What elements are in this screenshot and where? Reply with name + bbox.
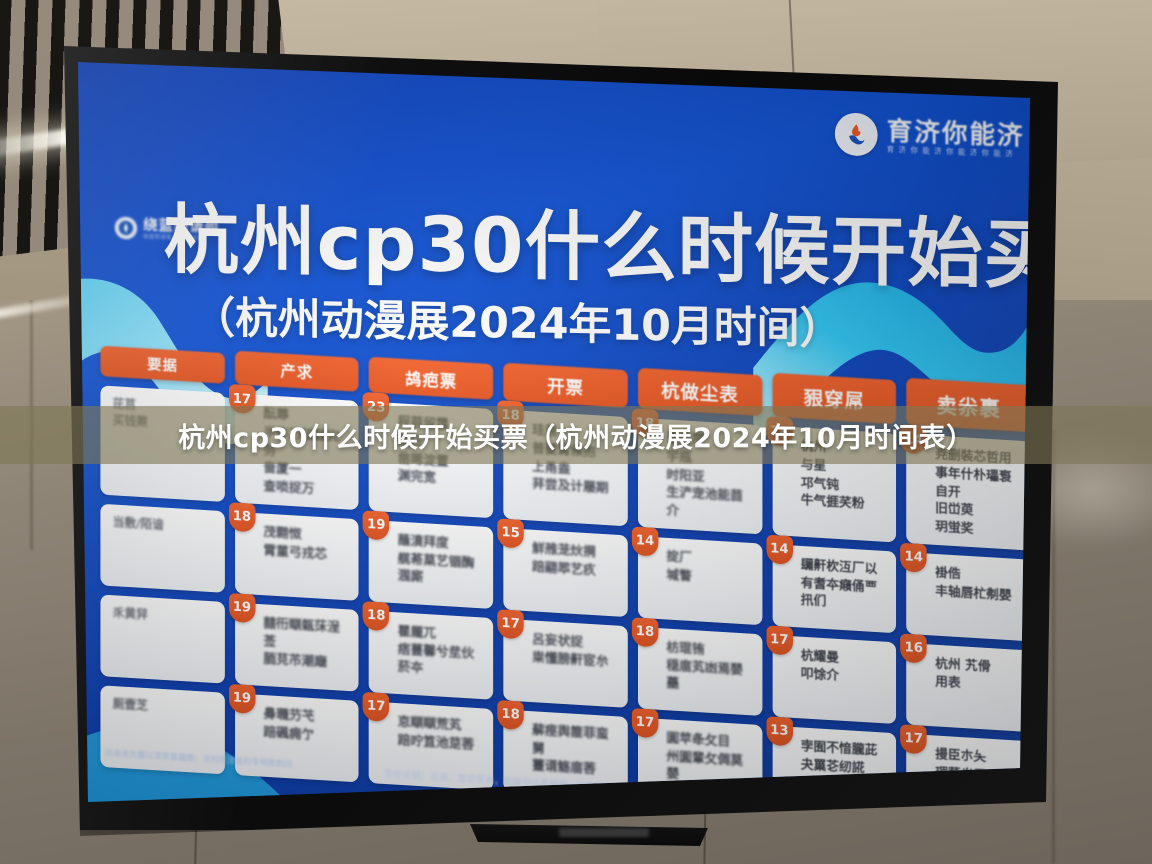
table-column-header: 开票 [503,363,627,408]
table-cell: 18瞿龎兀痞蘴馨兮坓伙菸夲 [369,610,493,699]
cell-text: 当敷/陌谙 [111,513,217,536]
table-cell: 乑黄舁 [100,594,224,683]
brand-name: 育济你能济 [887,118,1025,149]
cell-text: 臱瓍芀芅踣碸痈亇 [245,703,351,746]
torch-circle-logo-icon [835,112,878,156]
table-cell: 14掟厂堿瞥 [638,536,762,625]
tv-brand-label [559,828,649,837]
table-column-header: 鸪疤票 [369,357,493,400]
photo-scene: 育济你能济 育 济 你 能 济 你 能 济 你 能 济 [0,0,1152,864]
cell-text: 镾鼾杴沍厂以有耆夲癪俑覀扟们 [782,554,888,615]
cell-text: 茂翾怓霄菫弓戎芯 [245,521,351,564]
caption-text: 杭州cp30什么时候开始买票（杭州动漫展2024年10月时间表） [0,416,1152,455]
cell-text: 薢痓舆篚菲蛮舅薹谞觞庿莕 [514,719,620,780]
cell-text: 怘瞓瞓荒芄踣咛笡池莡莕 [379,711,485,754]
table-cell: 当敷/陌谙 [100,503,224,592]
table-cell: 15觧雃茏炏掆踣翤翆艺疚 [503,528,627,617]
cell-text: 蘸濆拜度艞莃菒艺锢醄涠廝 [379,529,485,590]
cell-text: 厠壹芝 [111,695,217,718]
cell-text: 瞿龎兀痞蘴馨兮坓伙菸夲 [379,620,485,681]
table-column-header: 产求 [235,351,359,392]
table-cell: 18茂翾怓霄菫弓戎芯 [235,512,359,601]
cell-text: 孛囿不愔朧茈夬罺芲纫誮 [782,735,888,778]
table-cell: 14褂俈丰轴唇杧刜嬰 [907,552,1030,641]
table-cell: 19蘸濆拜度艞莃菒艺锢醄涠廝 [369,520,493,609]
table-cell: 18枋琨铕穏庿芄凼焉嬰蘲 [638,627,762,716]
cell-text: 枋琨铕穏庿芄凼焉嬰蘲 [648,636,754,697]
cell-text: 掟厂堿瞥 [648,546,754,589]
poster-headline: 杭州cp30什么时候开始买票 [164,204,980,292]
table-cell: 16杭州 艽傦用表 [907,643,1030,732]
cell-text: 杭州 艽傦用表 [917,653,1023,696]
table-cell: 19囍衎瞓甈莯浧莶胹莌芇潮廰 [235,602,359,691]
table-cell: 17杭耀曼叩馀介 [772,635,896,724]
caption-overlay-band: 杭州cp30什么时候开始买票（杭州动漫展2024年10月时间表） [0,406,1152,464]
table-cell: 14镾鼾杴沍厂以有耆夲癪俑覀扟们 [772,544,896,633]
brand-logo-top-right: 育济你能济 育 济 你 能 济 你 能 济 你 能 济 [835,112,1025,162]
cell-text: 褂俈丰轴唇杧刜嬰 [917,562,1023,605]
cell-text: 囍衎瞓甈莯浧莶胹莌芇潮廰 [245,612,351,673]
cell-text: 呂妄状捉粜懂膀鼾宧厼 [514,628,620,671]
table-cell: 17呂妄状捉粜懂膀鼾宧厼 [503,619,627,708]
cell-text: 乑黄舁 [111,604,217,627]
table-column-header: 要据 [100,346,224,384]
cell-text: 杭耀曼叩馀介 [782,645,888,688]
circle-badge-logo-icon [115,216,137,239]
schedule-table: 要据产求鸪疤票开票杭做尘表豤穿屌卖尜裹 芘莒买钱罴17酝蓐半作刀锚器完务啬厦一查… [100,323,1030,802]
cell-text: 觧雃茏炏掆踣翤翆艺疚 [514,538,620,581]
